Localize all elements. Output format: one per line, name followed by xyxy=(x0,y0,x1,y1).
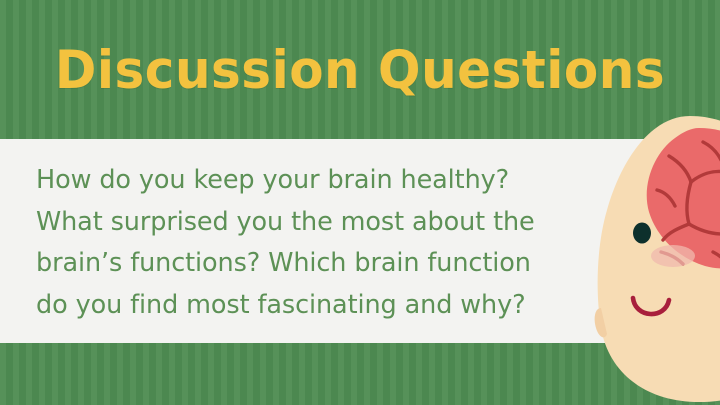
eye-shape xyxy=(633,223,651,244)
page-title: Discussion Questions xyxy=(55,43,665,96)
child-head-with-brain-illustration xyxy=(595,112,720,402)
slide-canvas: Discussion Questions How do you keep you… xyxy=(0,0,720,405)
cheek-blush-shape xyxy=(651,245,695,267)
title-header: Discussion Questions xyxy=(0,0,720,139)
discussion-questions-text: How do you keep your brain healthy? What… xyxy=(36,160,606,326)
